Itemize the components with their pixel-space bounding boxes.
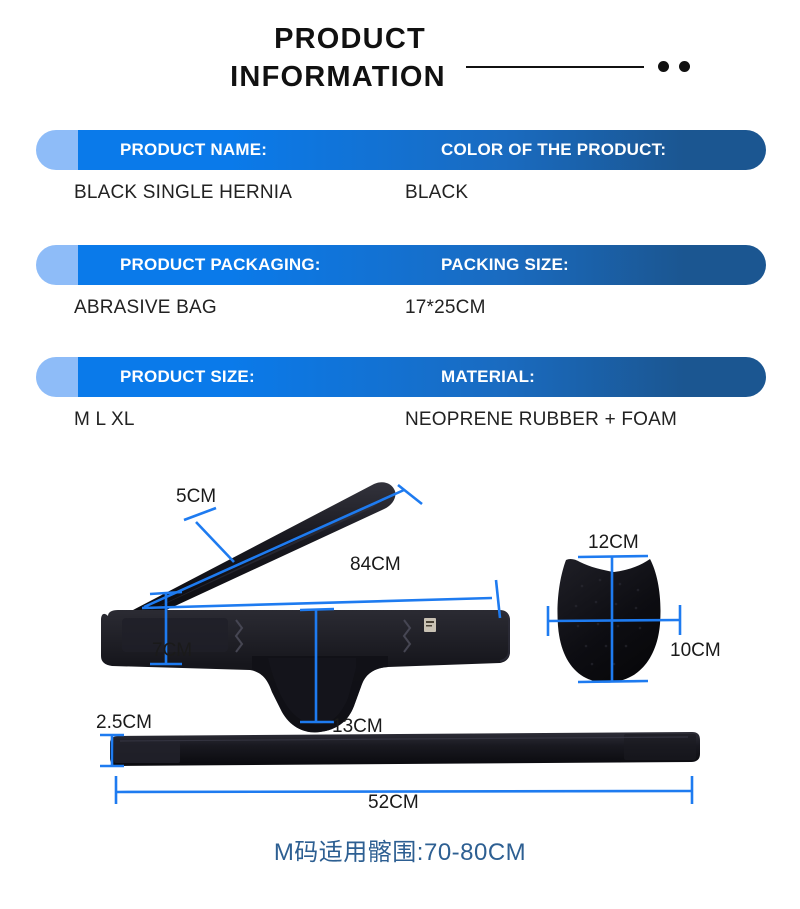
size-caption: M码适用髂围:70-80CM [0,832,800,867]
title-line-2: INFORMATION [0,60,800,94]
dimension-label-pad-width: 12CM [588,532,639,553]
dimension-label-pad-height: 10CM [670,640,721,661]
page-title: PRODUCT INFORMATION [0,22,800,102]
dimension-label-strap-length: 52CM [368,792,419,813]
product-main-belt [101,610,510,732]
field-value-color: BLACK [405,178,468,208]
field-value-material: NEOPRENE RUBBER + FOAM [405,405,677,435]
info-row-bar: PRODUCT SIZE: MATERIAL: [36,357,766,397]
field-value-product-name: BLACK SINGLE HERNIA [74,178,292,208]
field-label-packing-size: PACKING SIZE: [441,245,569,285]
title-word-information: INFORMATION [230,60,446,94]
field-value-packing-size: 17*25CM [405,293,486,323]
field-label-product-size: PRODUCT SIZE: [120,357,255,397]
field-label-product-packaging: PRODUCT PACKAGING: [120,245,321,285]
info-row: PRODUCT SIZE: MATERIAL: M L XL NEOPRENE … [0,357,800,467]
field-label-material: MATERIAL: [441,357,535,397]
dimension-label-strap-width: 5CM [176,486,216,507]
field-label-color: COLOR OF THE PRODUCT: [441,130,666,170]
info-row: PRODUCT NAME: COLOR OF THE PRODUCT: BLAC… [0,130,800,240]
info-row: PRODUCT PACKAGING: PACKING SIZE: ABRASIV… [0,245,800,355]
field-value-product-packaging: ABRASIVE BAG [74,293,217,323]
title-line-1: PRODUCT [0,22,800,56]
field-value-product-size: M L XL [74,405,135,435]
title-word-product: PRODUCT [274,22,426,56]
field-label-product-name: PRODUCT NAME: [120,130,267,170]
dimension-label-belt-height: 7CM [152,640,192,661]
dimension-label-pouch-height: 13CM [332,716,383,737]
product-extension-strap [110,732,700,766]
product-dimension-figure: 5CM 84CM 7CM 13CM 12CM 10CM 2.5CM 52CM [0,460,800,830]
dimension-label-strap-thickness: 2.5CM [96,712,152,733]
info-row-bar: PRODUCT NAME: COLOR OF THE PRODUCT: [36,130,766,170]
info-row-bar: PRODUCT PACKAGING: PACKING SIZE: [36,245,766,285]
dimension-label-belt-length: 84CM [350,554,401,575]
